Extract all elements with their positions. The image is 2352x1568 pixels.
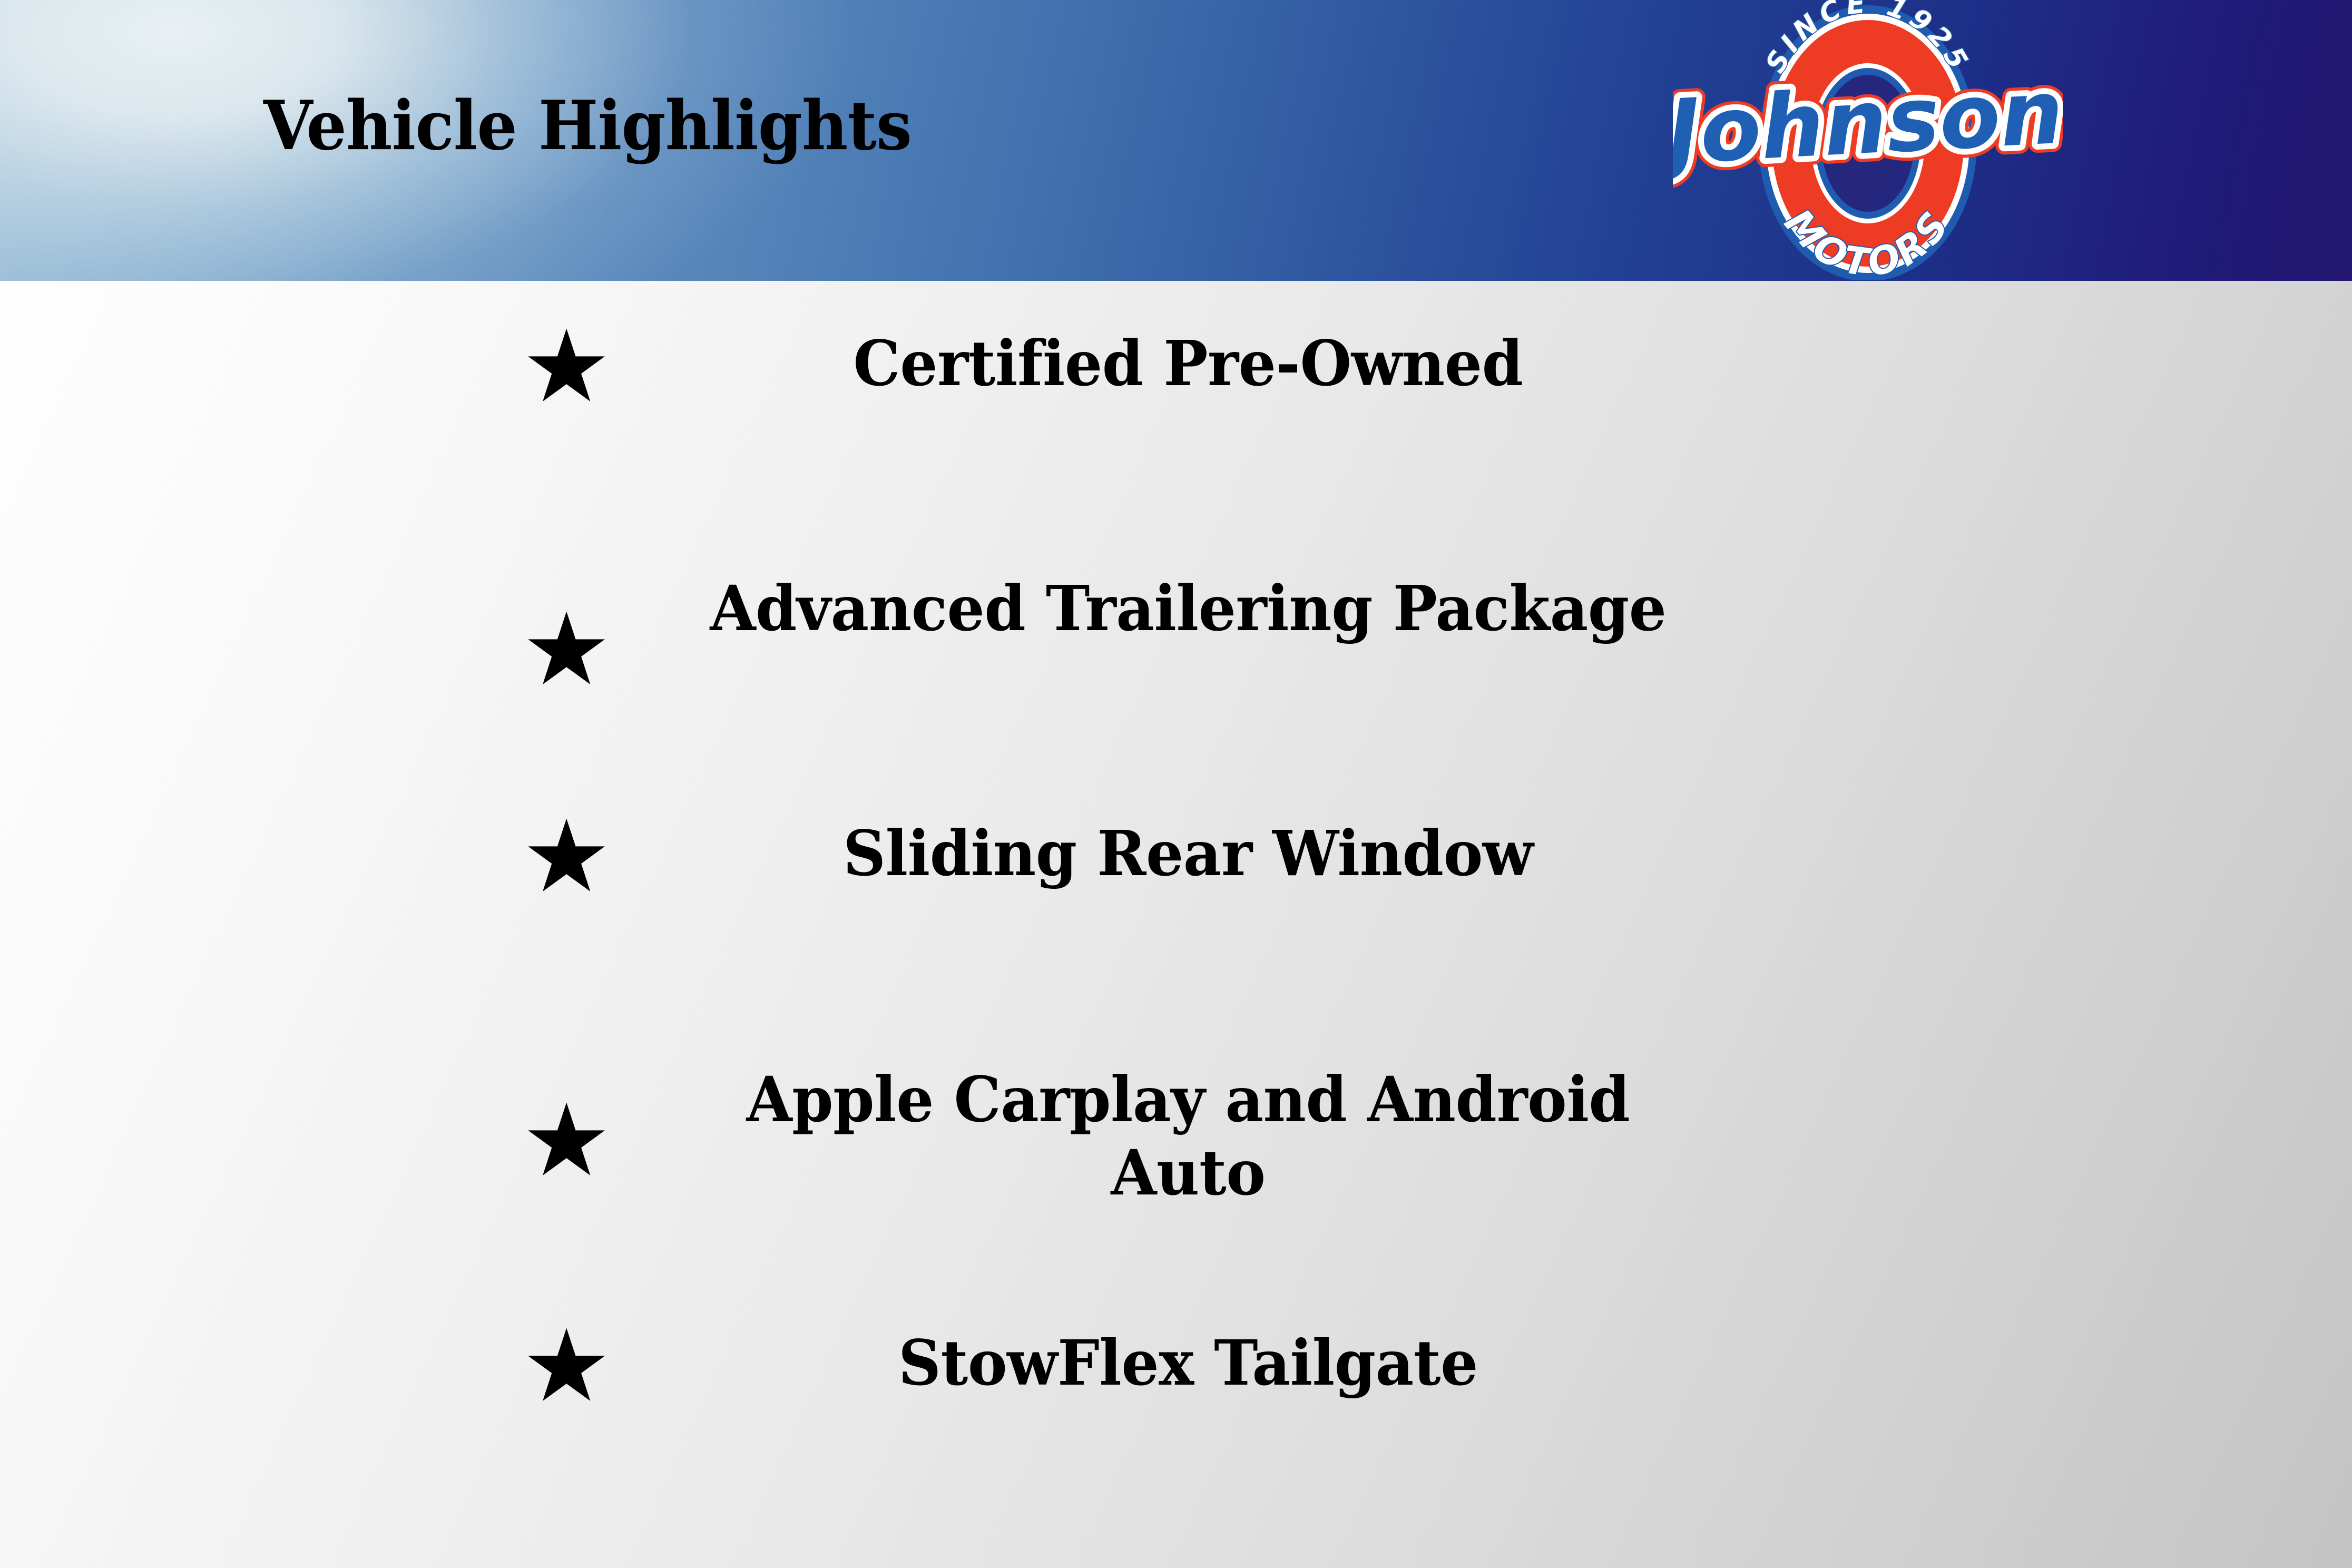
highlight-label: Advanced Trailering Package [705,572,1671,645]
highlight-label: Apple Carplay and Android Auto [705,1063,1671,1209]
star-icon: ★ [522,614,595,686]
slide-canvas: Vehicle Highlights [0,0,2352,1568]
highlights-list: ★ Certified Pre-Owned ★ Advanced Trailer… [0,281,2352,1568]
star-icon: ★ [522,331,595,403]
header-banner: Vehicle Highlights [0,0,2352,281]
highlight-label: Sliding Rear Window [705,817,1671,890]
johnson-motors-logo: SINCE 1925 MOTORS Johnson Johnson Johnso… [1673,0,2063,280]
logo-script-wordmark: Johnson Johnson Johnson [1673,61,2063,185]
star-icon: ★ [522,1330,595,1403]
star-icon: ★ [522,821,595,893]
svg-text:Johnson: Johnson [1673,61,2063,185]
star-icon: ★ [522,1105,595,1177]
highlight-label: StowFlex Tailgate [705,1326,1671,1399]
highlight-label: Certified Pre-Owned [705,327,1671,400]
page-title: Vehicle Highlights [263,92,912,160]
